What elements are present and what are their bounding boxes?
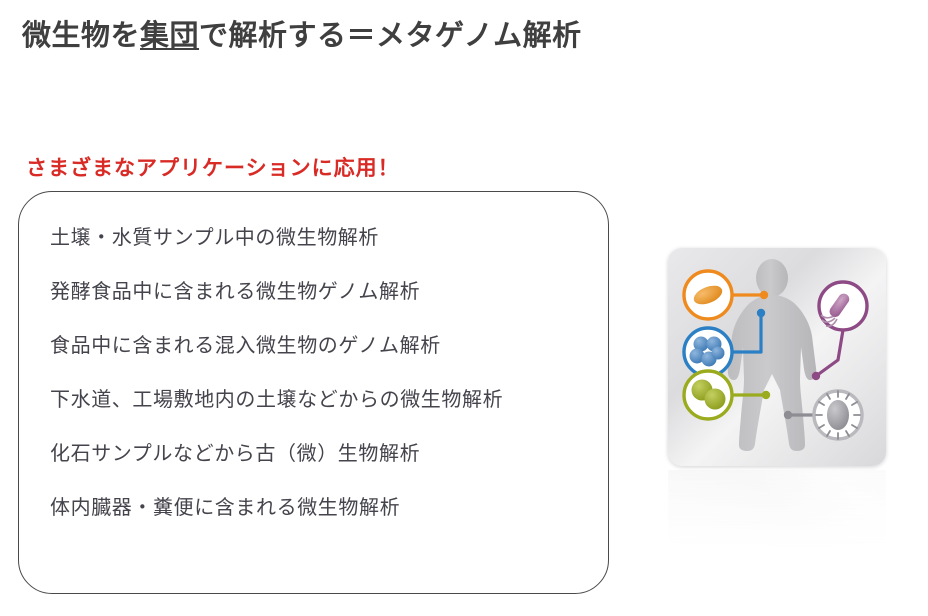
human-microbiome-illustration [668,248,886,466]
list-item: 下水道、工場敷地内の土壌などからの微生物解析 [50,390,610,410]
connector-hip [812,330,843,380]
oral-bacillus-callout [684,271,732,319]
ciliate-virus-callout [814,391,862,439]
list-item: 化石サンプルなどから古（微）生物解析 [50,444,610,464]
illustration-reflection [668,470,886,548]
list-item: 食品中に含まれる混入微生物のゲノム解析 [50,336,610,356]
illustration-panel [668,248,886,466]
body-silhouette [728,259,816,451]
gut-diplococcus-callout [684,371,732,419]
page-title-prefix: 微生物を [22,20,140,52]
page-title: 微生物を集団で解析する＝メタゲノム解析 [22,12,582,54]
applications-subtitle: さまざまなアプリケーションに応用！ [26,152,400,182]
list-item: 体内臓器・糞便に含まれる微生物解析 [50,498,610,518]
page-title-emphasis: 集団 [140,20,199,52]
flagellate-callout [819,282,867,330]
illustration-svg [668,248,886,466]
list-item: 土壌・水質サンプル中の微生物解析 [50,228,610,248]
list-item: 発酵食品中に含まれる微生物ゲノム解析 [50,282,610,302]
applications-list: 土壌・水質サンプル中の微生物解析 発酵食品中に含まれる微生物ゲノム解析 食品中に… [50,228,610,518]
lung-cocci-callout [684,328,732,376]
page-title-suffix: で解析する＝メタゲノム解析 [199,20,582,52]
